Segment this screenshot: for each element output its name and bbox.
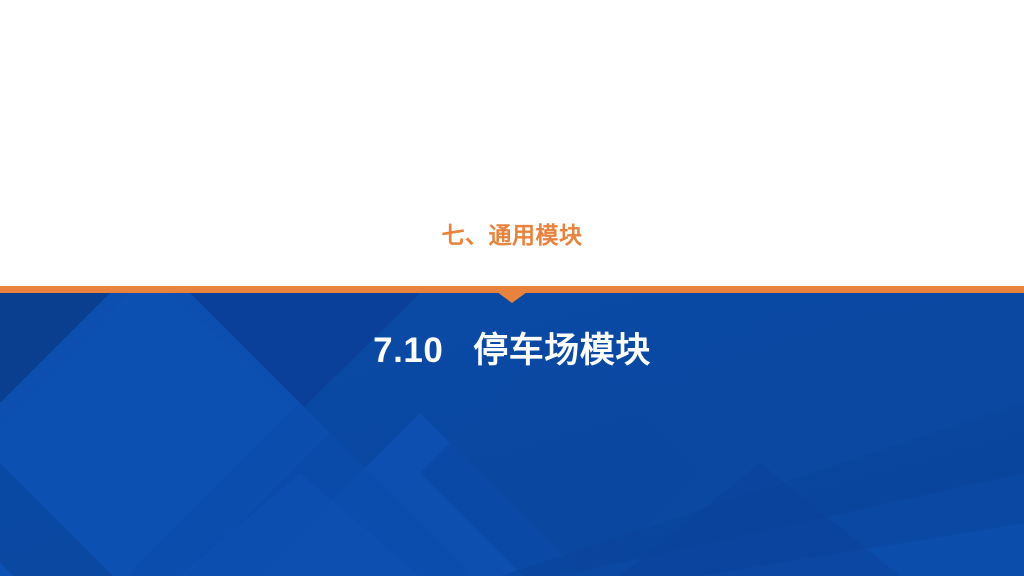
section-divider-slide: 七、通用模块	[0, 0, 1024, 576]
page-title-number: 7.10	[373, 331, 443, 370]
page-title: 7.10停车场模块	[0, 329, 1024, 373]
chevron-down-icon	[497, 292, 527, 303]
upper-white-zone: 七、通用模块	[0, 0, 1024, 286]
page-title-text: 停车场模块	[473, 331, 651, 370]
blue-content-panel: 7.10停车场模块	[0, 293, 1024, 576]
section-kicker-heading: 七、通用模块	[0, 221, 1024, 250]
